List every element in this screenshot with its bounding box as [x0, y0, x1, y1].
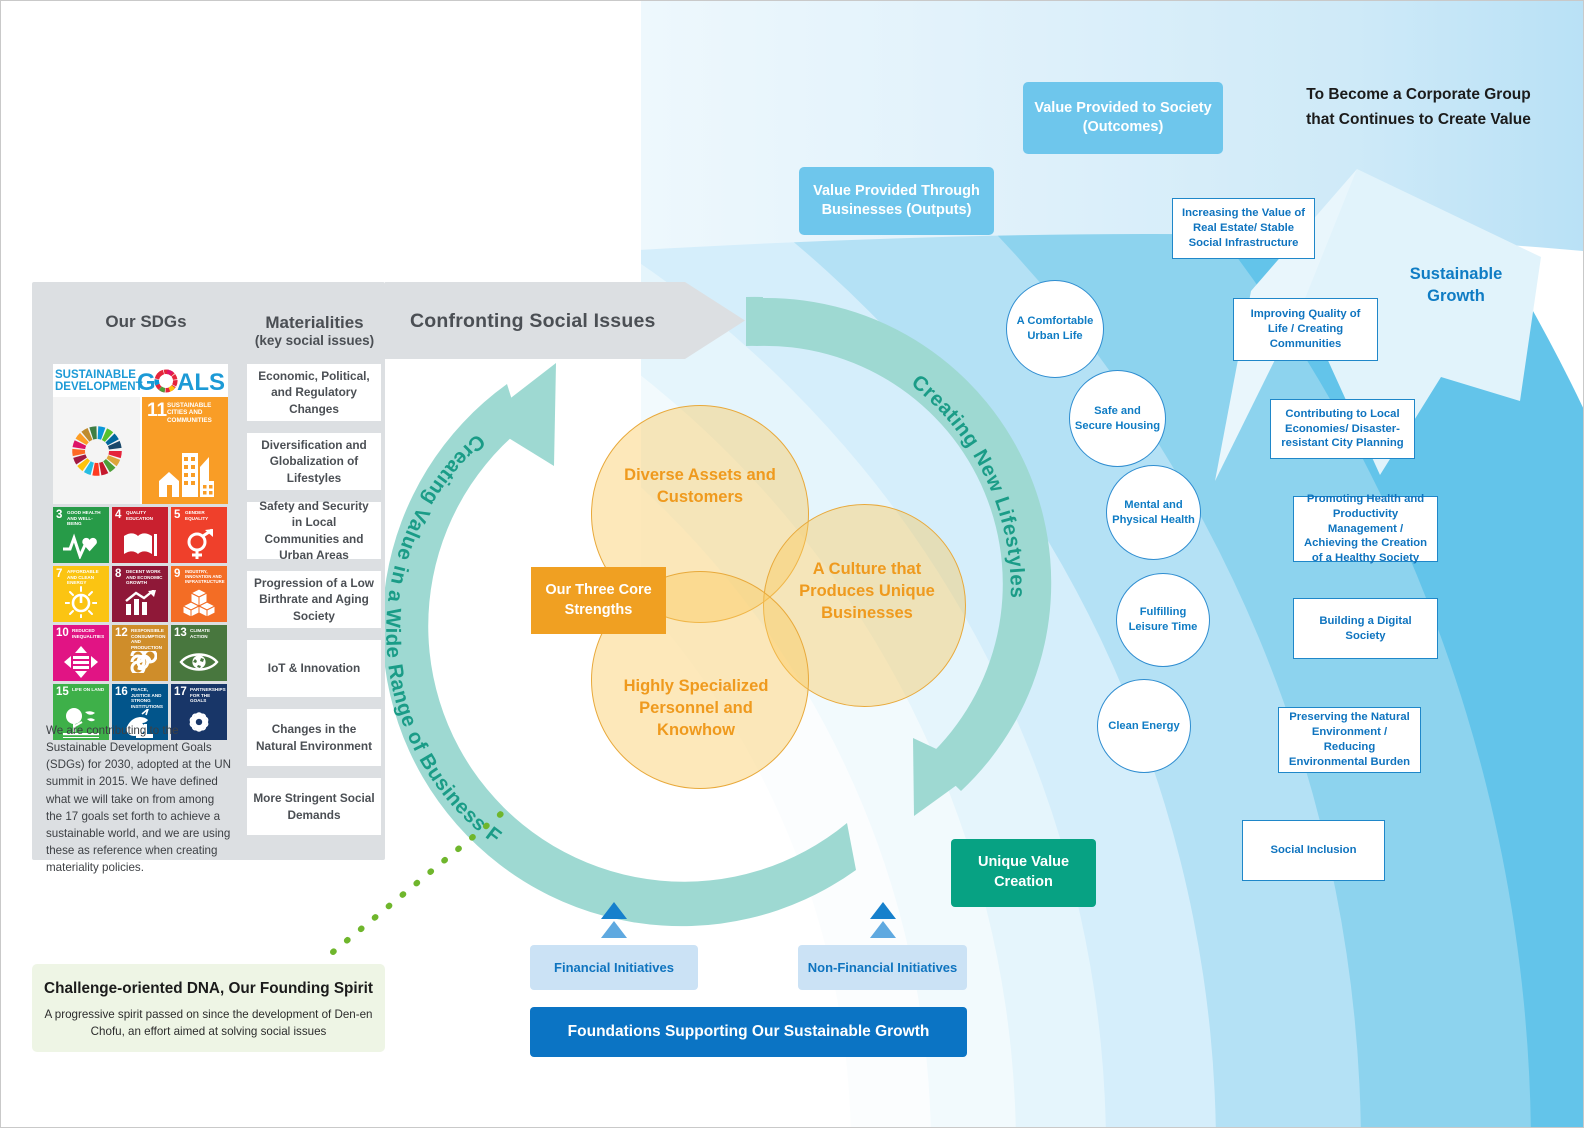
founding-spirit-title: Challenge-oriented DNA, Our Founding Spi…	[32, 980, 385, 998]
financial-initiatives-block: Financial Initiatives	[530, 945, 698, 990]
infographic-canvas: Sustainable Growth Creating Value in a W…	[0, 0, 1584, 1128]
upward-arrow-markers	[1, 1, 1583, 1127]
founding-spirit-box: Challenge-oriented DNA, Our Founding Spi…	[32, 964, 385, 1052]
founding-spirit-subtitle: A progressive spirit passed on since the…	[32, 1007, 385, 1041]
foundations-block: Foundations Supporting Our Sustainable G…	[530, 1007, 967, 1057]
non-financial-initiatives-block: Non-Financial Initiatives	[798, 945, 967, 990]
